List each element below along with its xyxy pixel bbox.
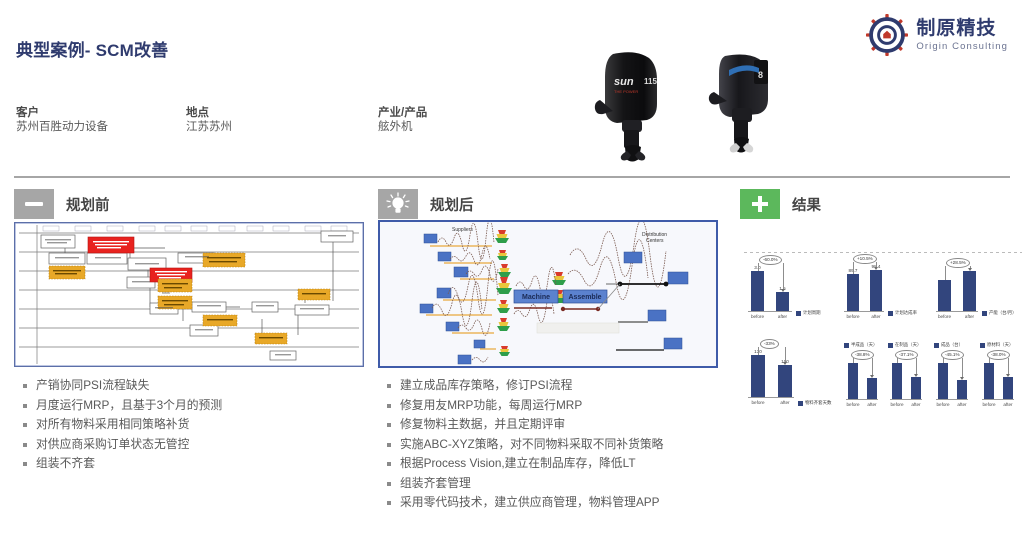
leader-line (962, 358, 963, 377)
after-supply-chain-diagram: Suppliers Distribution Centers (378, 220, 718, 368)
result-charts: 3.0before1.5after-60.0%计划周期89.7before98.… (740, 252, 1024, 442)
x-axis (844, 311, 884, 312)
chart-8: beforeafter-38.0% (982, 358, 1014, 400)
delta-callout: -45.1% (941, 350, 964, 360)
chart-7: beforeafter-45.1% (936, 358, 968, 400)
panel-result-head: 结果 (740, 188, 1024, 220)
x-axis (846, 399, 878, 400)
x-axis (748, 397, 794, 398)
legend-swatch (796, 311, 801, 316)
delta-callout: -37.1% (895, 350, 918, 360)
plus-icon (740, 189, 780, 219)
plot-area: beforeafter-37.1% (890, 358, 922, 400)
meta-customer-value: 苏州百胜动力设备 (16, 120, 108, 135)
chart-6-legend: 在制品（天） (888, 342, 921, 348)
chart-4: 130before100after-33% (748, 350, 794, 398)
bar (911, 377, 921, 400)
header-divider (14, 176, 1010, 178)
x-tick-label: before (934, 314, 955, 319)
svg-text:THE POWER: THE POWER (614, 89, 638, 94)
chart-2: 89.7before98.4after+10.5% (844, 266, 884, 312)
bar (751, 271, 764, 312)
svg-text:115: 115 (644, 77, 657, 86)
chart-4-legend: 物料齐套天数 (798, 400, 831, 406)
arrow-head (968, 268, 972, 271)
chart-1-legend: 计划周期 (796, 310, 821, 316)
legend-swatch (844, 343, 849, 348)
minus-icon (14, 189, 54, 219)
delta-callout: +10.5% (853, 254, 877, 264)
delta-callout: -38.0% (987, 350, 1010, 360)
legend-swatch (798, 401, 803, 406)
x-tick-label: before (934, 402, 952, 407)
arrow-head (1006, 374, 1010, 377)
chart-6: beforeafter-37.1% (890, 358, 922, 400)
x-tick-label: after (907, 402, 925, 407)
legend-label: 成品（台） (941, 342, 963, 348)
bar (938, 280, 951, 312)
bar (963, 271, 976, 312)
x-axis (936, 311, 978, 312)
meta-industry-label: 产业/产品 (378, 106, 427, 120)
slide-root: 典型案例- SCM改善 客户 苏州百胜动力设备 地点 江苏苏州 产业/产品 舷外… (0, 0, 1024, 541)
list-item: 根据Process Vision,建立在制品库存，降低LT (378, 454, 723, 474)
bar (848, 363, 858, 400)
list-item: 采用零代码技术，建立供应商管理，物料管理APP (378, 493, 723, 513)
panel-after: 规划后 (378, 188, 718, 220)
x-tick-label: before (980, 402, 998, 407)
x-axis (748, 311, 792, 312)
panel-result: 结果 (740, 188, 1024, 220)
leader-line (1008, 358, 1009, 374)
x-axis (936, 399, 968, 400)
meta-industry: 产业/产品 舷外机 (378, 106, 427, 135)
arrow-head (783, 362, 787, 365)
list-item: 对供应商采购订单状态无管控 (14, 435, 364, 455)
svg-text:sun: sun (614, 76, 634, 88)
chart-7-legend: 成品（台） (934, 342, 963, 348)
delta-callout: -60.0% (759, 255, 782, 265)
delta-callout: -38.8% (851, 350, 874, 360)
list-item: 产销协同PSI流程缺失 (14, 376, 364, 396)
legend-label: 原材料（天） (987, 342, 1013, 348)
legend-label: 产能（台/月） (989, 310, 1017, 316)
arrow-head (874, 267, 878, 270)
meta-customer: 客户 苏州百胜动力设备 (16, 106, 108, 135)
x-tick-label: after (863, 402, 881, 407)
x-tick-label: before (843, 314, 863, 319)
panel-before: 规划前 (14, 188, 364, 220)
outboard-motor-right: 8 (709, 55, 768, 153)
gear-logo-icon (866, 14, 908, 56)
list-item: 组装不齐套 (14, 454, 364, 474)
svg-text:Centers: Centers (646, 238, 664, 244)
leader-line (853, 262, 854, 274)
legend-swatch (888, 311, 893, 316)
chart-8-legend: 原材料（天） (980, 342, 1013, 348)
x-tick-label: before (747, 400, 769, 405)
bar (984, 363, 994, 400)
arrow-head (870, 375, 874, 378)
x-tick-label: before (844, 402, 862, 407)
plot-area: beforeafter+28.5% (936, 266, 978, 312)
meta-row: 客户 苏州百胜动力设备 地点 江苏苏州 产业/产品 舷外机 (16, 106, 616, 146)
leader-line (783, 263, 784, 289)
x-tick-label: after (772, 314, 793, 319)
panel-before-title: 规划前 (66, 194, 110, 215)
legend-label: 半成品（天） (851, 342, 877, 348)
chart-2-legend: 计划达成率 (888, 310, 917, 316)
x-tick-label: after (953, 402, 971, 407)
panel-before-head: 规划前 (14, 188, 364, 220)
node-machine: Machine (522, 294, 550, 301)
x-tick-label: before (747, 314, 768, 319)
node-assemble: Assemble (568, 294, 601, 301)
leader-line (897, 358, 898, 363)
legend-label: 在制品（天） (895, 342, 921, 348)
chart-3: beforeafter+28.5% (936, 266, 978, 312)
bar (867, 378, 877, 400)
delta-callout: -33% (760, 339, 779, 349)
meta-customer-label: 客户 (16, 106, 108, 120)
x-tick-label: after (774, 400, 796, 405)
list-item: 修复用友MRP功能，每周运行MRP (378, 396, 723, 416)
lightbulb-icon (378, 189, 418, 219)
plot-area: beforeafter-45.1% (936, 358, 968, 400)
plot-area: beforeafter-38.0% (982, 358, 1014, 400)
legend-swatch (980, 343, 985, 348)
x-axis (982, 399, 1014, 400)
product-photos: sun THE POWER 115 8 (580, 48, 800, 170)
meta-location: 地点 江苏苏州 (186, 106, 232, 135)
legend-label: 计划周期 (803, 310, 821, 316)
bar (1003, 377, 1013, 400)
x-tick-label: after (999, 402, 1017, 407)
after-bullet-list: 建立成品库存策略，修订PSI流程 修复用友MRP功能，每周运行MRP 修复物料主… (378, 376, 723, 513)
arrow-head (914, 374, 918, 377)
list-item: 建立成品库存策略，修订PSI流程 (378, 376, 723, 396)
before-bullet-list: 产销协同PSI流程缺失 月度运行MRP，且基于3个月的预测 对所有物料采用相同策… (14, 376, 364, 474)
legend-label: 物料齐套天数 (805, 400, 831, 406)
leader-line (943, 358, 944, 363)
leader-line (853, 358, 854, 363)
brand-logo: 制原精技 Origin Consulting (866, 14, 1008, 56)
chart-5-legend: 半成品（天） (844, 342, 877, 348)
delta-callout: +28.5% (946, 258, 970, 268)
leader-line (785, 347, 786, 362)
chart-1: 3.0before1.5after-60.0% (748, 266, 792, 312)
meta-location-value: 江苏苏州 (186, 120, 232, 135)
legend-label: 计划达成率 (895, 310, 917, 316)
logo-text: 制原精技 Origin Consulting (916, 19, 1008, 52)
leader-line (872, 358, 873, 375)
panel-after-title: 规划后 (430, 194, 474, 215)
page-title: 典型案例- SCM改善 (16, 36, 168, 61)
charts-divider (744, 252, 1022, 253)
plot-area: beforeafter-38.8% (846, 358, 878, 400)
before-process-flowchart (14, 222, 364, 367)
bar (957, 380, 967, 400)
bar (892, 363, 902, 400)
leader-line (989, 358, 990, 363)
chart-3-legend: 产能（台/月） (982, 310, 1017, 316)
list-item: 实施ABC-XYZ策略，对不同物料采取不同补货策略 (378, 435, 723, 455)
leader-line (758, 347, 759, 355)
leader-line (945, 266, 946, 280)
plot-area: 89.7before98.4after+10.5% (844, 266, 884, 312)
list-item: 月度运行MRP，且基于3个月的预测 (14, 396, 364, 416)
plot-area: 3.0before1.5after-60.0% (748, 266, 792, 312)
svg-text:8: 8 (758, 70, 763, 80)
bar (870, 270, 882, 312)
panel-result-title: 结果 (792, 194, 821, 215)
list-item: 修复物料主数据，并且定期评审 (378, 415, 723, 435)
outboard-motor-left: sun THE POWER 115 (595, 52, 658, 161)
legend-swatch (934, 343, 939, 348)
meta-industry-value: 舷外机 (378, 120, 427, 135)
bar (751, 355, 765, 398)
x-tick-label: after (959, 314, 980, 319)
bar (776, 292, 789, 312)
chart-5: beforeafter-38.8% (846, 358, 878, 400)
bar (778, 365, 792, 398)
list-item: 对所有物料采用相同策略补货 (14, 415, 364, 435)
logo-name-cn: 制原精技 (916, 19, 1008, 38)
bar (938, 363, 948, 400)
legend-swatch (982, 311, 987, 316)
list-item: 组装齐套管理 (378, 474, 723, 494)
x-tick-label: before (888, 402, 906, 407)
panel-after-head: 规划后 (378, 188, 718, 220)
legend-swatch (888, 343, 893, 348)
bar (847, 274, 859, 312)
arrow-head (781, 289, 785, 292)
plot-area: 130before100after-33% (748, 350, 794, 398)
logo-name-en: Origin Consulting (916, 42, 1008, 52)
leader-line (916, 358, 917, 374)
x-axis (890, 399, 922, 400)
leader-line (758, 263, 759, 271)
arrow-head (960, 377, 964, 380)
meta-location-label: 地点 (186, 106, 232, 120)
x-tick-label: after (866, 314, 886, 319)
